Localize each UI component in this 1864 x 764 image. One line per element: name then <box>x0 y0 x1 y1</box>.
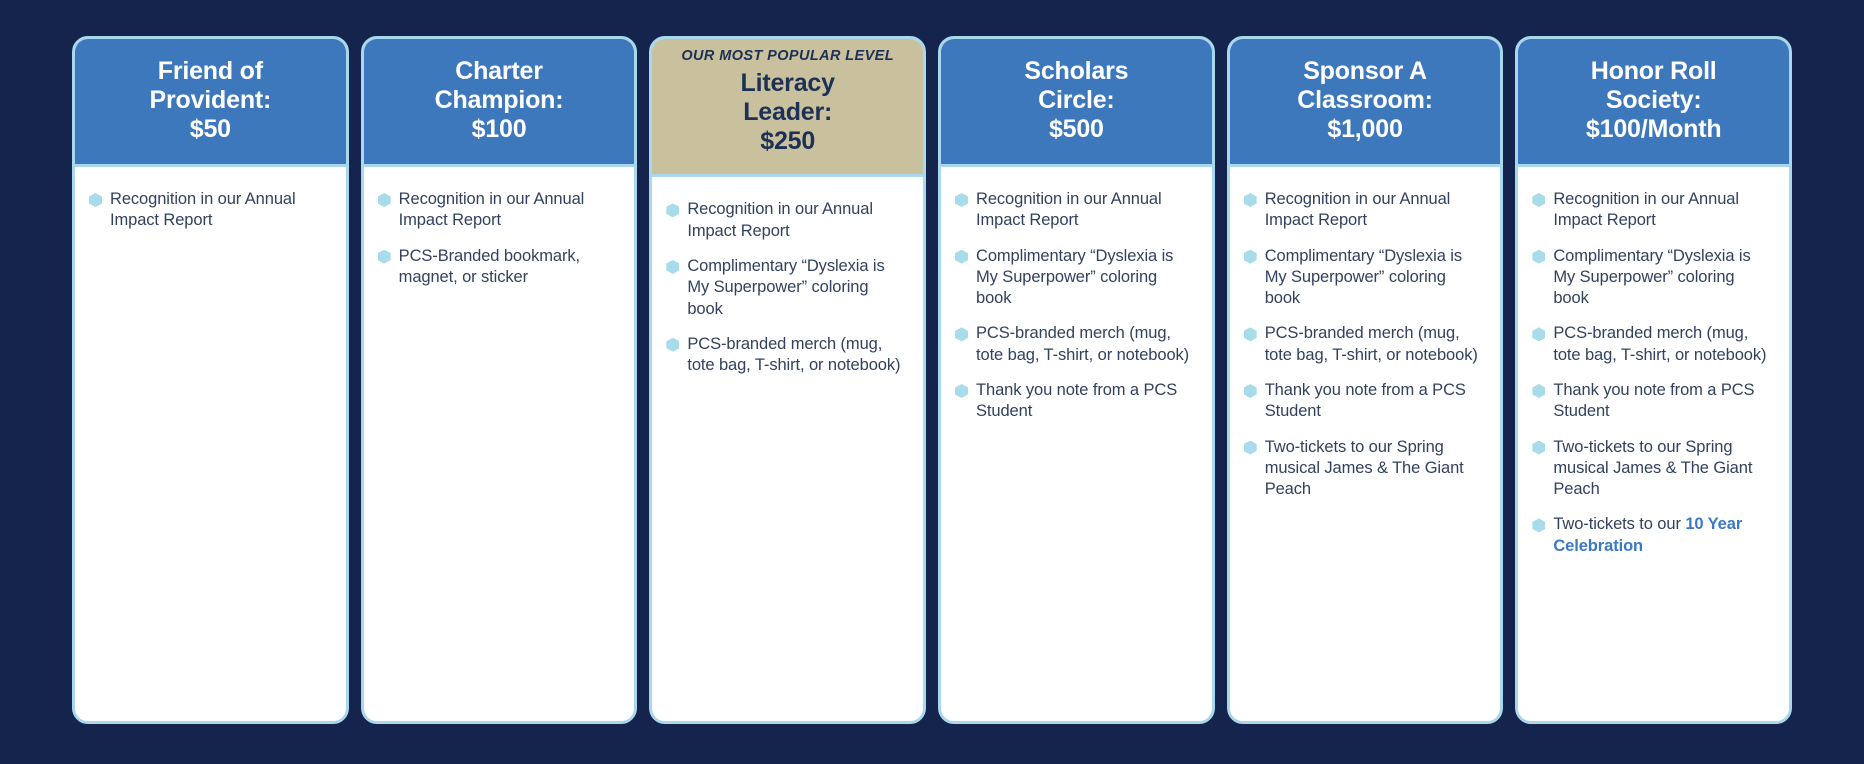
hexagon-bullet-icon <box>1244 441 1257 455</box>
tier-title-line: $250 <box>741 127 835 156</box>
benefit-item: Recognition in our Annual Impact Report <box>89 189 330 232</box>
benefit-item: Recognition in our Annual Impact Report <box>1532 189 1773 232</box>
donation-tier-board: Friend ofProvident:$50Recognition in our… <box>0 0 1864 764</box>
tier-header-literacy-leader: OUR MOST POPULAR LEVELLiteracyLeader:$25… <box>652 39 923 177</box>
tier-title-line: Honor Roll <box>1586 57 1722 86</box>
benefit-item: Complimentary “Dyslexia is My Superpower… <box>1532 246 1773 310</box>
benefit-text-body: Two-tickets to our Spring musical James … <box>1265 438 1464 499</box>
tier-title: ScholarsCircle:$500 <box>1024 57 1128 144</box>
tier-title-line: Friend of <box>150 57 272 86</box>
tier-title: Sponsor AClassroom:$1,000 <box>1297 57 1433 144</box>
benefit-text: PCS-Branded bookmark, magnet, or sticker <box>399 246 619 289</box>
benefit-text-body: Recognition in our Annual Impact Report <box>976 190 1162 229</box>
benefit-list: Recognition in our Annual Impact ReportP… <box>378 189 619 288</box>
tier-card-literacy-leader[interactable]: OUR MOST POPULAR LEVELLiteracyLeader:$25… <box>649 36 926 724</box>
tier-title-line: $50 <box>150 115 272 144</box>
tier-body-sponsor-a-classroom: Recognition in our Annual Impact ReportC… <box>1230 167 1501 721</box>
benefit-text-body: Thank you note from a PCS Student <box>976 381 1177 420</box>
benefit-text: PCS-branded merch (mug, tote bag, T-shir… <box>687 334 907 377</box>
benefit-text-body: Complimentary “Dyslexia is My Superpower… <box>687 257 884 318</box>
hexagon-bullet-icon <box>955 250 968 264</box>
benefit-text: Complimentary “Dyslexia is My Superpower… <box>687 256 907 320</box>
hexagon-bullet-icon <box>378 193 391 207</box>
benefit-text: Two-tickets to our Spring musical James … <box>1553 437 1773 501</box>
benefit-text: Complimentary “Dyslexia is My Superpower… <box>1553 246 1773 310</box>
tier-body-charter-champion: Recognition in our Annual Impact ReportP… <box>364 167 635 721</box>
tier-title-line: Provident: <box>150 86 272 115</box>
benefit-list: Recognition in our Annual Impact ReportC… <box>1244 189 1485 500</box>
hexagon-bullet-icon <box>1244 250 1257 264</box>
tier-card-friend-of-provident[interactable]: Friend ofProvident:$50Recognition in our… <box>72 36 349 724</box>
benefit-item: Two-tickets to our 10 Year Celebration <box>1532 514 1773 557</box>
hexagon-bullet-icon <box>1244 327 1257 341</box>
tier-title-line: $1,000 <box>1297 115 1433 144</box>
hexagon-bullet-icon <box>1532 193 1545 207</box>
benefit-text: Complimentary “Dyslexia is My Superpower… <box>976 246 1196 310</box>
tier-header-honor-roll-society: Honor RollSociety:$100/Month <box>1518 39 1789 167</box>
benefit-text: Recognition in our Annual Impact Report <box>399 189 619 232</box>
benefit-item: PCS-Branded bookmark, magnet, or sticker <box>378 246 619 289</box>
benefit-text: PCS-branded merch (mug, tote bag, T-shir… <box>976 323 1196 366</box>
benefit-list: Recognition in our Annual Impact ReportC… <box>955 189 1196 423</box>
benefit-text: PCS-branded merch (mug, tote bag, T-shir… <box>1553 323 1773 366</box>
benefit-list: Recognition in our Annual Impact ReportC… <box>666 199 907 376</box>
benefit-text: PCS-branded merch (mug, tote bag, T-shir… <box>1265 323 1485 366</box>
benefit-item: PCS-branded merch (mug, tote bag, T-shir… <box>955 323 1196 366</box>
benefit-text-body: Recognition in our Annual Impact Report <box>1265 190 1451 229</box>
benefit-text: Recognition in our Annual Impact Report <box>687 199 907 242</box>
tier-header-charter-champion: CharterChampion:$100 <box>364 39 635 167</box>
benefit-text-body: Recognition in our Annual Impact Report <box>399 190 585 229</box>
tier-title-line: Scholars <box>1024 57 1128 86</box>
hexagon-bullet-icon <box>1244 193 1257 207</box>
benefit-text: Thank you note from a PCS Student <box>1265 380 1485 423</box>
tier-header-sponsor-a-classroom: Sponsor AClassroom:$1,000 <box>1230 39 1501 167</box>
benefit-text-body: Complimentary “Dyslexia is My Superpower… <box>1553 247 1750 308</box>
benefit-item: PCS-branded merch (mug, tote bag, T-shir… <box>1532 323 1773 366</box>
tier-card-sponsor-a-classroom[interactable]: Sponsor AClassroom:$1,000Recognition in … <box>1227 36 1504 724</box>
hexagon-bullet-icon <box>955 384 968 398</box>
tier-title-line: $100 <box>435 115 564 144</box>
benefit-item: Thank you note from a PCS Student <box>1244 380 1485 423</box>
benefit-text-body: PCS-Branded bookmark, magnet, or sticker <box>399 247 580 286</box>
benefit-text: Recognition in our Annual Impact Report <box>976 189 1196 232</box>
tier-title-line: $500 <box>1024 115 1128 144</box>
tier-title-line: Sponsor A <box>1297 57 1433 86</box>
benefit-list: Recognition in our Annual Impact Report <box>89 189 330 232</box>
benefit-text: Thank you note from a PCS Student <box>976 380 1196 423</box>
hexagon-bullet-icon <box>1532 518 1545 532</box>
benefit-item: Complimentary “Dyslexia is My Superpower… <box>955 246 1196 310</box>
tier-card-honor-roll-society[interactable]: Honor RollSociety:$100/MonthRecognition … <box>1515 36 1792 724</box>
tier-body-literacy-leader: Recognition in our Annual Impact ReportC… <box>652 177 923 721</box>
benefit-item: Thank you note from a PCS Student <box>955 380 1196 423</box>
benefit-item: Complimentary “Dyslexia is My Superpower… <box>666 256 907 320</box>
benefit-text: Recognition in our Annual Impact Report <box>1265 189 1485 232</box>
benefit-item: Recognition in our Annual Impact Report <box>1244 189 1485 232</box>
benefit-text: Complimentary “Dyslexia is My Superpower… <box>1265 246 1485 310</box>
benefit-text-body: Recognition in our Annual Impact Report <box>110 190 296 229</box>
tier-header-friend-of-provident: Friend ofProvident:$50 <box>75 39 346 167</box>
benefit-text: Two-tickets to our Spring musical James … <box>1265 437 1485 501</box>
hexagon-bullet-icon <box>1244 384 1257 398</box>
tier-card-charter-champion[interactable]: CharterChampion:$100Recognition in our A… <box>361 36 638 724</box>
benefit-text-body: PCS-branded merch (mug, tote bag, T-shir… <box>1553 324 1766 363</box>
hexagon-bullet-icon <box>666 203 679 217</box>
benefit-item: PCS-branded merch (mug, tote bag, T-shir… <box>1244 323 1485 366</box>
benefit-item: Complimentary “Dyslexia is My Superpower… <box>1244 246 1485 310</box>
benefit-item: Two-tickets to our Spring musical James … <box>1244 437 1485 501</box>
benefit-text: Two-tickets to our 10 Year Celebration <box>1553 514 1773 557</box>
benefit-text: Thank you note from a PCS Student <box>1553 380 1773 423</box>
benefit-item: Thank you note from a PCS Student <box>1532 380 1773 423</box>
hexagon-bullet-icon <box>1532 384 1545 398</box>
benefit-text-body: Complimentary “Dyslexia is My Superpower… <box>1265 247 1462 308</box>
hexagon-bullet-icon <box>955 327 968 341</box>
benefit-text: Recognition in our Annual Impact Report <box>110 189 330 232</box>
benefit-text-body: Thank you note from a PCS Student <box>1265 381 1466 420</box>
hexagon-bullet-icon <box>1532 250 1545 264</box>
benefit-text-body: Recognition in our Annual Impact Report <box>1553 190 1739 229</box>
hexagon-bullet-icon <box>955 193 968 207</box>
benefit-list: Recognition in our Annual Impact ReportC… <box>1532 189 1773 557</box>
benefit-text-body: Recognition in our Annual Impact Report <box>687 200 873 239</box>
benefit-text-body: Thank you note from a PCS Student <box>1553 381 1754 420</box>
benefit-item: Recognition in our Annual Impact Report <box>955 189 1196 232</box>
benefit-item: Recognition in our Annual Impact Report <box>666 199 907 242</box>
benefit-item: Recognition in our Annual Impact Report <box>378 189 619 232</box>
hexagon-bullet-icon <box>666 338 679 352</box>
tier-body-scholars-circle: Recognition in our Annual Impact ReportC… <box>941 167 1212 721</box>
hexagon-bullet-icon <box>89 193 102 207</box>
tier-title-line: Society: <box>1586 86 1722 115</box>
tier-title-line: Leader: <box>741 98 835 127</box>
tier-title: CharterChampion:$100 <box>435 57 564 144</box>
benefit-text-body: Two-tickets to our Spring musical James … <box>1553 438 1752 499</box>
tier-card-scholars-circle[interactable]: ScholarsCircle:$500Recognition in our An… <box>938 36 1215 724</box>
tier-title-line: Classroom: <box>1297 86 1433 115</box>
hexagon-bullet-icon <box>1532 327 1545 341</box>
tier-title: Friend ofProvident:$50 <box>150 57 272 144</box>
most-popular-badge: OUR MOST POPULAR LEVEL <box>681 48 894 65</box>
tier-title: Honor RollSociety:$100/Month <box>1586 57 1722 144</box>
benefit-text-body: Two-tickets to our <box>1553 515 1685 533</box>
benefit-item: Two-tickets to our Spring musical James … <box>1532 437 1773 501</box>
hexagon-bullet-icon <box>1532 441 1545 455</box>
benefit-text-body: PCS-branded merch (mug, tote bag, T-shir… <box>1265 324 1478 363</box>
tier-title: LiteracyLeader:$250 <box>741 69 835 156</box>
tier-title-line: Circle: <box>1024 86 1128 115</box>
benefit-text-body: Complimentary “Dyslexia is My Superpower… <box>976 247 1173 308</box>
tier-body-friend-of-provident: Recognition in our Annual Impact Report <box>75 167 346 721</box>
benefit-item: PCS-branded merch (mug, tote bag, T-shir… <box>666 334 907 377</box>
tier-title-line: $100/Month <box>1586 115 1722 144</box>
tier-header-scholars-circle: ScholarsCircle:$500 <box>941 39 1212 167</box>
hexagon-bullet-icon <box>666 260 679 274</box>
tier-title-line: Literacy <box>741 69 835 98</box>
benefit-text-body: PCS-branded merch (mug, tote bag, T-shir… <box>976 324 1189 363</box>
tier-title-line: Charter <box>435 57 564 86</box>
benefit-text-body: PCS-branded merch (mug, tote bag, T-shir… <box>687 335 900 374</box>
benefit-text: Recognition in our Annual Impact Report <box>1553 189 1773 232</box>
tier-body-honor-roll-society: Recognition in our Annual Impact ReportC… <box>1518 167 1789 721</box>
hexagon-bullet-icon <box>378 250 391 264</box>
tier-title-line: Champion: <box>435 86 564 115</box>
